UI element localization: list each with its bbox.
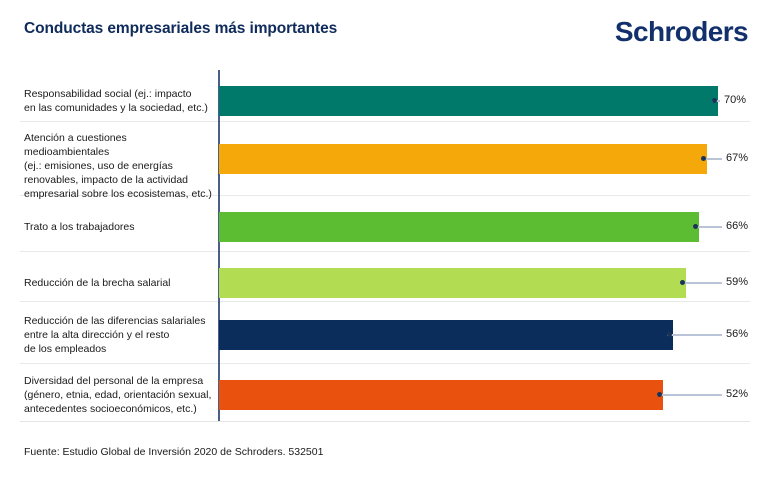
category-label: Atención a cuestiones medioambientales(e…	[24, 131, 214, 201]
footer-divider	[20, 421, 750, 422]
category-label-line: (ej.: emisiones, uso de energías	[24, 159, 214, 173]
leader-dot	[657, 392, 662, 397]
value-label: 59%	[726, 276, 748, 288]
bar	[219, 212, 699, 242]
category-label-line: Trato a los trabajadores	[24, 220, 214, 234]
value-label: 67%	[726, 152, 748, 164]
chart-header: Conductas empresariales más importantes …	[0, 0, 770, 68]
category-label-line: Diversidad del personal de la empresa	[24, 374, 214, 388]
leader-dot	[712, 98, 717, 103]
bar	[219, 380, 663, 410]
bar-row: Diversidad del personal de la empresa(gé…	[0, 364, 770, 422]
leader-line	[657, 394, 722, 396]
category-label: Reducción de las diferencias salarialese…	[24, 314, 214, 356]
bar-row: Trato a los trabajadores66%	[0, 196, 770, 252]
category-label-line: antecedentes socioeconómicos, etc.)	[24, 402, 214, 416]
bar-row: Responsabilidad social (ej.: impactoen l…	[0, 70, 770, 122]
value-label: 66%	[726, 220, 748, 232]
bar-row: Reducción de la brecha salarial59%	[0, 252, 770, 302]
category-label-line: Responsabilidad social (ej.: impacto	[24, 87, 214, 101]
bar	[219, 320, 673, 350]
bar-row: Reducción de las diferencias salarialese…	[0, 302, 770, 364]
category-label-line: de los empleados	[24, 342, 214, 356]
category-label-line: entre la alta dirección y el resto	[24, 328, 214, 342]
category-label: Trato a los trabajadores	[24, 220, 214, 234]
category-label-line: Reducción de las diferencias salariales	[24, 314, 214, 328]
bar-chart-plot-area: Responsabilidad social (ej.: impactoen l…	[0, 70, 770, 422]
category-label-line: Reducción de la brecha salarial	[24, 276, 214, 290]
value-label: 52%	[726, 388, 748, 400]
category-label: Diversidad del personal de la empresa(gé…	[24, 374, 214, 416]
bar-row: Atención a cuestiones medioambientales(e…	[0, 122, 770, 196]
leader-dot	[701, 156, 706, 161]
bar	[219, 268, 686, 298]
schroders-logo: Schroders	[615, 18, 748, 46]
category-label: Reducción de la brecha salarial	[24, 276, 214, 290]
value-label: 70%	[724, 94, 746, 106]
leader-dot	[693, 224, 698, 229]
category-label-line: Atención a cuestiones medioambientales	[24, 131, 214, 159]
bar	[219, 144, 707, 174]
category-label-line: en las comunidades y la sociedad, etc.)	[24, 101, 214, 115]
leader-dot	[680, 280, 685, 285]
source-note: Fuente: Estudio Global de Inversión 2020…	[24, 446, 323, 458]
bar	[219, 86, 718, 116]
value-label: 56%	[726, 328, 748, 340]
leader-dot	[667, 332, 672, 337]
page-title: Conductas empresariales más importantes	[24, 20, 337, 38]
category-label-line: (género, etnia, edad, orientación sexual…	[24, 388, 214, 402]
leader-line	[667, 334, 722, 336]
category-label-line: renovables, impacto de la actividad	[24, 173, 214, 187]
leader-line	[680, 282, 722, 284]
category-label: Responsabilidad social (ej.: impactoen l…	[24, 87, 214, 115]
